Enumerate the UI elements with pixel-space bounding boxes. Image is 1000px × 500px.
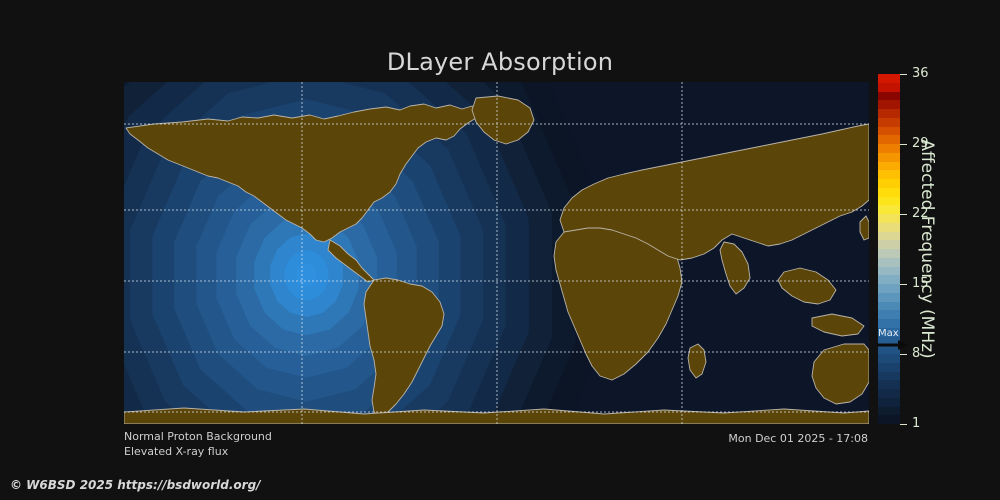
- colorbar-band: [878, 302, 900, 310]
- colorbar-tick-mark: [900, 214, 907, 215]
- colorbar-band: [878, 118, 900, 127]
- world-map[interactable]: [124, 82, 869, 424]
- colorbar-band: [878, 275, 900, 284]
- colorbar-band: [878, 363, 900, 372]
- colorbar-tick-mark: [900, 354, 907, 355]
- colorbar-band: [878, 214, 900, 223]
- colorbar-band: [878, 232, 900, 240]
- note-proton-background: Normal Proton Background: [124, 429, 272, 444]
- colorbar-band: [878, 284, 900, 293]
- colorbar-tick-mark: [900, 74, 907, 75]
- colorbar-band: [878, 354, 900, 363]
- colorbar[interactable]: [878, 74, 900, 424]
- colorbar-gradient: [878, 74, 900, 424]
- contour-band-8.5mhz: [296, 264, 316, 287]
- colorbar-band: [878, 389, 900, 398]
- colorbar-axis-label: Affected Frequency (MHz): [916, 74, 938, 424]
- colorbar-band: [878, 328, 900, 337]
- colorbar-band: [878, 74, 900, 83]
- colorbar-band: [878, 345, 900, 354]
- dlayer-absorption-screen: DLayer Absorption: [0, 0, 1000, 500]
- timestamp: Mon Dec 01 2025 - 17:08: [560, 432, 868, 445]
- colorbar-band: [878, 337, 900, 345]
- colorbar-band: [878, 415, 900, 424]
- colorbar-band: [878, 223, 900, 232]
- colorbar-band: [878, 380, 900, 389]
- colorbar-band: [878, 197, 900, 205]
- colorbar-band: [878, 310, 900, 319]
- colorbar-band: [878, 162, 900, 170]
- colorbar-band: [878, 127, 900, 135]
- colorbar-band: [878, 372, 900, 380]
- colorbar-band: [878, 109, 900, 118]
- colorbar-band: [878, 240, 900, 249]
- colorbar-band: [878, 83, 900, 92]
- colorbar-band: [878, 293, 900, 302]
- colorbar-tick-mark: [900, 424, 907, 425]
- colorbar-band: [878, 153, 900, 162]
- colorbar-band: [878, 398, 900, 407]
- colorbar-tick-mark: [900, 284, 907, 285]
- status-notes: Normal Proton Background Elevated X-ray …: [124, 429, 272, 459]
- world-map-svg: [124, 82, 869, 424]
- colorbar-band: [878, 135, 900, 144]
- colorbar-band: [878, 267, 900, 275]
- colorbar-band: [878, 258, 900, 267]
- colorbar-band: [878, 319, 900, 328]
- credit-line: © W6BSD 2025 https://bsdworld.org/: [10, 478, 261, 492]
- colorbar-band: [878, 144, 900, 153]
- colorbar-band: [878, 179, 900, 188]
- colorbar-band: [878, 170, 900, 179]
- colorbar-band: [878, 407, 900, 415]
- page-title: DLayer Absorption: [0, 48, 1000, 76]
- colorbar-band: [878, 100, 900, 109]
- colorbar-band: [878, 92, 900, 100]
- colorbar-band: [878, 205, 900, 214]
- colorbar-tick-mark: [900, 144, 907, 145]
- note-xray-flux: Elevated X-ray flux: [124, 444, 272, 459]
- colorbar-band: [878, 249, 900, 258]
- colorbar-band: [878, 188, 900, 197]
